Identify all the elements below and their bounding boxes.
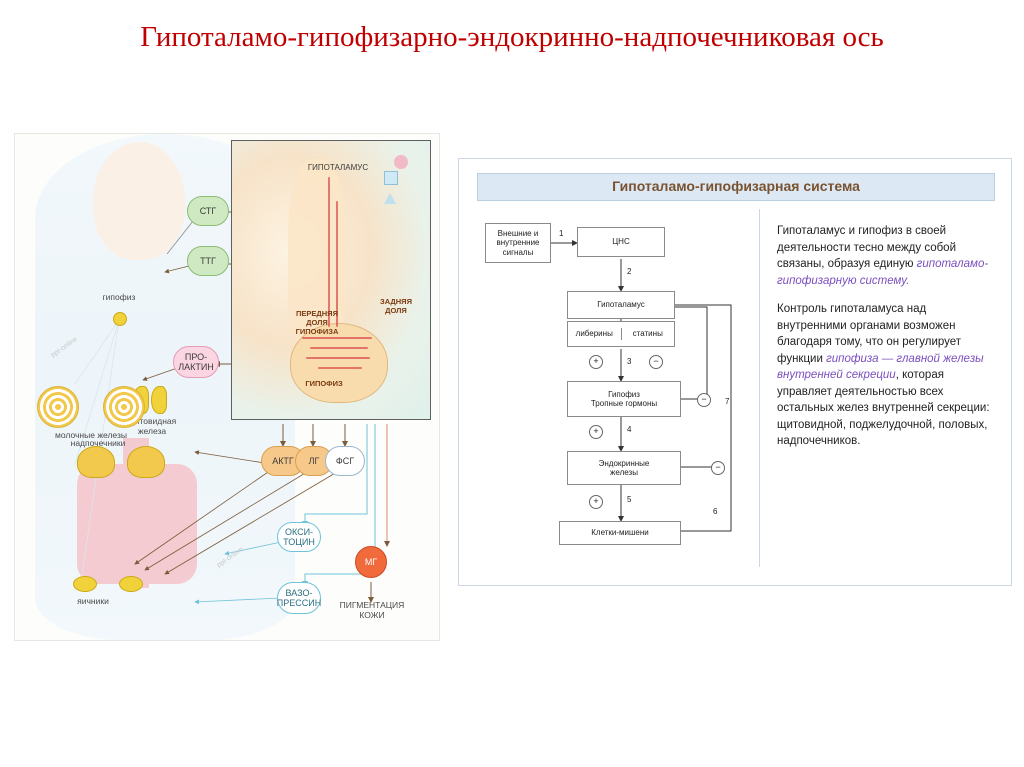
node-stg[interactable]: СТГ xyxy=(187,196,229,226)
flow-box-pituitary: Гипофиз Тропные гормоны xyxy=(567,381,681,417)
flow-box-statins: статины xyxy=(622,328,675,340)
label-pituitary: ГИПОФИЗ xyxy=(294,379,354,388)
label-anterior-lobe: ПЕРЕДНЯЯДОЛЯГИПОФИЗА xyxy=(284,309,350,336)
right-scheme-panel: Гипоталамо-гипофизарная система Внешние … xyxy=(458,158,1012,586)
flow-box-liberins: либерины xyxy=(568,328,622,340)
flow-number-2: 2 xyxy=(627,267,631,276)
adrenal-left-icon xyxy=(77,446,115,478)
panel-divider xyxy=(759,209,760,567)
label-skin-pigmentation: ПИГМЕНТАЦИЯ КОЖИ xyxy=(337,600,407,620)
slide-root: Гипоталамо-гипофизарно-эндокринно-надпоч… xyxy=(0,0,1024,767)
flow-box-external-signals: Внешние и внутренние сигналы xyxy=(485,223,551,263)
flow-box-cns: ЦНС xyxy=(577,227,665,257)
node-fsg[interactable]: ФСГ xyxy=(325,446,365,476)
head-shape xyxy=(93,142,185,260)
flow-box-hypothalamus: Гипоталамус xyxy=(567,291,675,319)
node-vasopressin[interactable]: ВАЗО- ПРЕССИН xyxy=(277,582,321,614)
legend-circle-icon xyxy=(394,155,408,169)
flow-number-7: 7 xyxy=(725,397,729,406)
flow-number-3: 3 xyxy=(627,357,631,366)
label-pituitary-small: гипофиз xyxy=(89,292,149,302)
legend-square-icon xyxy=(384,171,398,185)
node-mg[interactable]: МГ xyxy=(355,546,387,578)
hypothalamus-anatomy-box: ГИПОТАЛАМУС ПЕРЕДНЯЯДОЛЯГИПОФИЗА ЗАДНЯЯД… xyxy=(231,140,431,420)
sign-plus-3: + xyxy=(589,495,603,509)
node-prolactin[interactable]: ПРО- ЛАКТИН xyxy=(173,346,219,378)
sign-plus-1: + xyxy=(589,355,603,369)
label-adrenals: надпочечники xyxy=(53,438,143,448)
ovary-left-icon xyxy=(73,576,97,592)
panel-header-bar: Гипоталамо-гипофизарная система xyxy=(477,173,995,201)
left-illustration-panel: ГИПОТАЛАМУС ПЕРЕДНЯЯДОЛЯГИПОФИЗА ЗАДНЯЯД… xyxy=(14,133,440,641)
flow-box-target-cells: Клетки-мишени xyxy=(559,521,681,545)
ovary-right-icon xyxy=(119,576,143,592)
flow-number-4: 4 xyxy=(627,425,631,434)
torso-shape xyxy=(77,464,197,584)
breast-right-icon xyxy=(103,386,145,428)
sign-minus-3: − xyxy=(711,461,725,475)
label-ovaries: яичники xyxy=(63,596,123,606)
pituitary-gland-icon xyxy=(113,312,127,326)
label-hypothalamus-box: ГИПОТАЛАМУС xyxy=(290,163,386,172)
sign-plus-2: + xyxy=(589,425,603,439)
page-title: Гипоталамо-гипофизарно-эндокринно-надпоч… xyxy=(112,18,912,56)
label-posterior-lobe: ЗАДНЯЯДОЛЯ xyxy=(376,297,416,315)
flow-number-6: 6 xyxy=(713,507,717,516)
panel-header-title: Гипоталамо-гипофизарная система xyxy=(478,178,994,194)
paragraph-2: Контроль гипоталамуса над внутренними ор… xyxy=(777,301,999,450)
node-oxytocin[interactable]: ОКСИ- ТОЦИН xyxy=(277,522,321,552)
flow-box-endocrine-glands: Эндокринные железы xyxy=(567,451,681,485)
node-ttg[interactable]: ТТГ xyxy=(187,246,229,276)
flow-number-1: 1 xyxy=(559,229,563,238)
legend-triangle-icon xyxy=(384,193,396,204)
flow-number-5: 5 xyxy=(627,495,631,504)
adrenal-right-icon xyxy=(127,446,165,478)
right-description-text: Гипоталамус и гипофиз в своей деятельнос… xyxy=(777,223,999,462)
breast-left-icon xyxy=(37,386,79,428)
sign-minus-2: − xyxy=(697,393,711,407)
paragraph-1: Гипоталамус и гипофиз в своей деятельнос… xyxy=(777,223,999,289)
sign-minus-1: − xyxy=(649,355,663,369)
